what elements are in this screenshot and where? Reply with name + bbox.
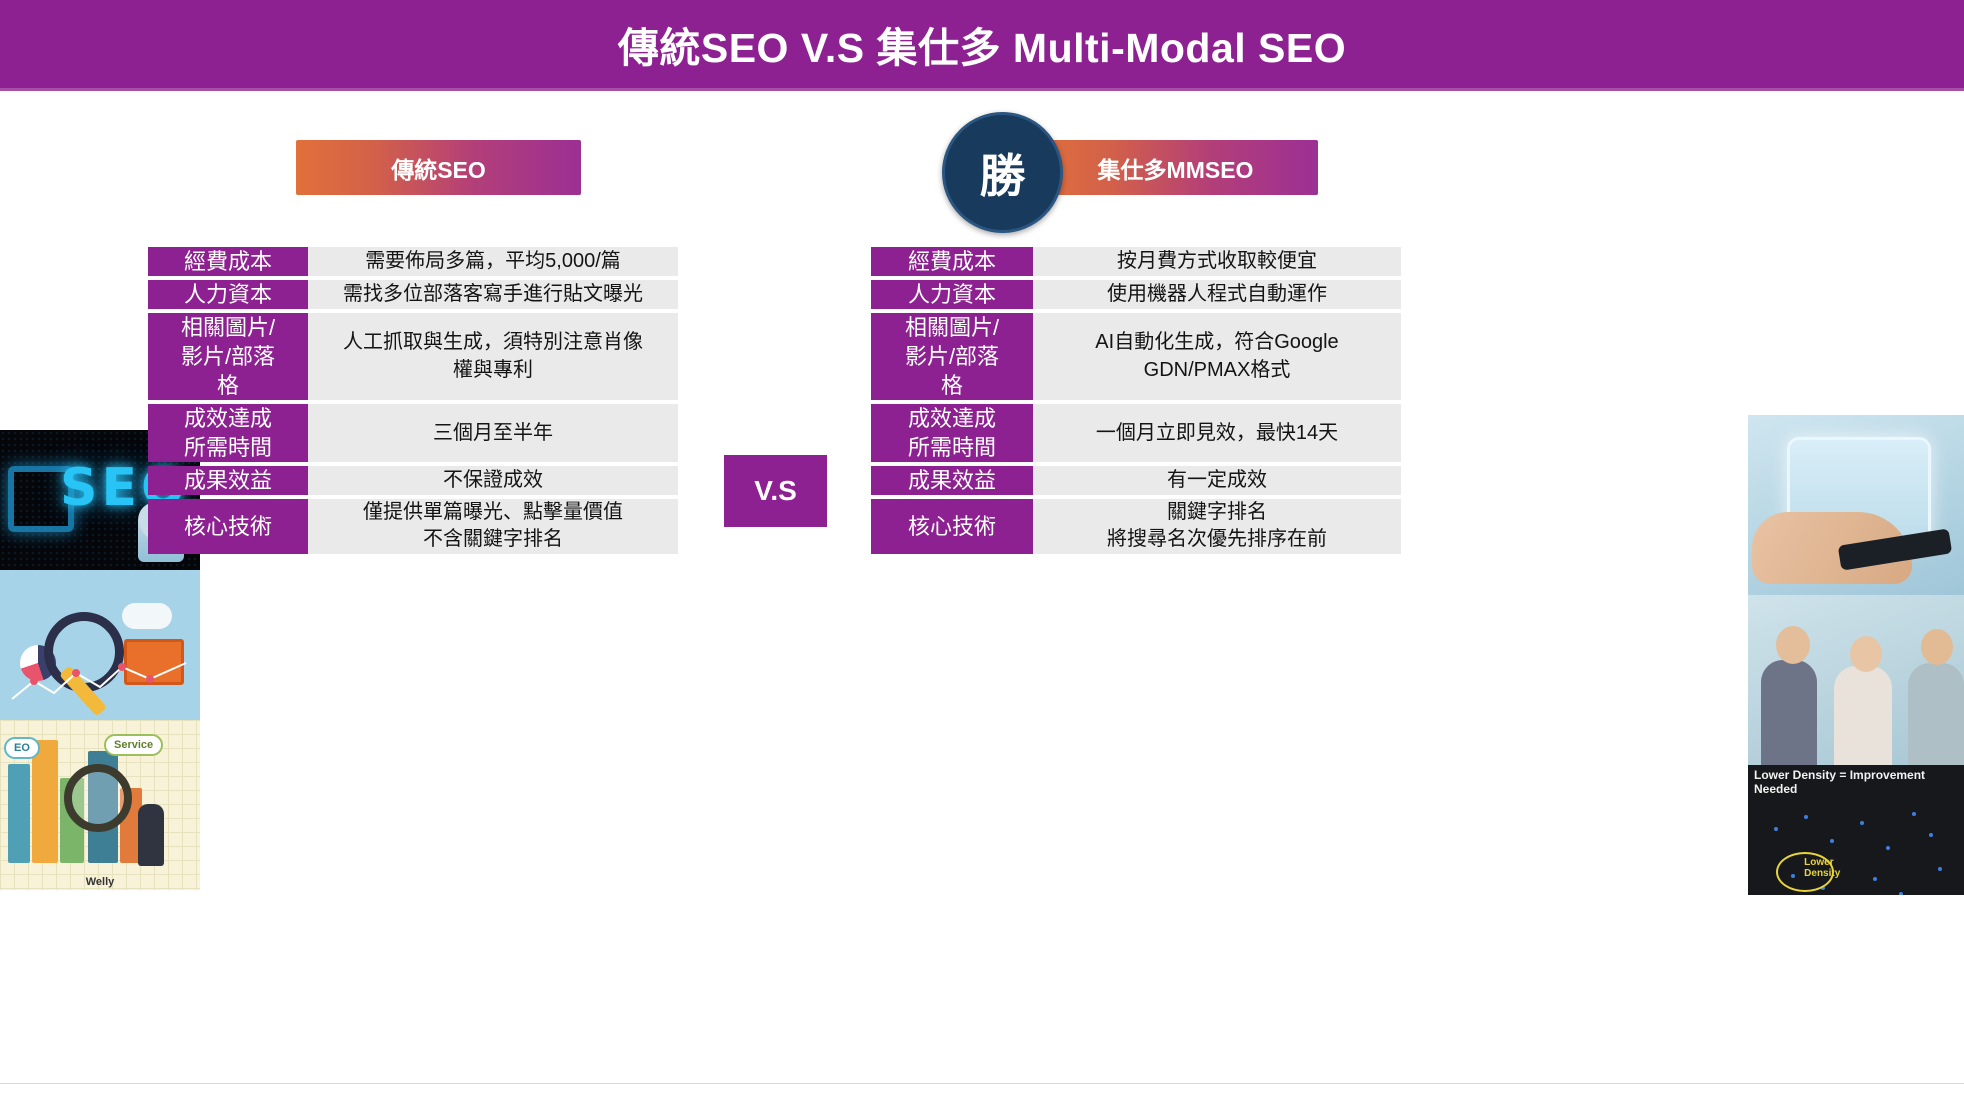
hand-touch-screen-photo bbox=[1748, 415, 1964, 595]
seo-bubble-label: EO bbox=[4, 737, 40, 759]
mmseo-header-label: 集仕多MMSEO bbox=[1098, 151, 1254, 185]
table-row: 相關圖片/影片/部落格AI自動化生成，符合GoogleGDN/PMAX格式 bbox=[871, 313, 1401, 400]
row-value: 人工抓取與生成，須特別注意肖像權與專利 bbox=[308, 313, 678, 400]
table-row: 核心技術關鍵字排名將搜尋名次優先排序在前 bbox=[871, 499, 1401, 553]
vs-badge: V.S bbox=[724, 455, 827, 527]
table-row: 成效達成所需時間一個月立即見效，最快14天 bbox=[871, 404, 1401, 462]
network-title: Lower Density = Improvement Needed bbox=[1754, 769, 1953, 797]
row-value: 關鍵字排名將搜尋名次優先排序在前 bbox=[1033, 499, 1401, 553]
person-figure bbox=[138, 804, 164, 866]
person-body bbox=[1908, 663, 1964, 765]
table-row: 人力資本使用機器人程式自動運作 bbox=[871, 280, 1401, 309]
person-head bbox=[1921, 629, 1953, 665]
mmseo-rows: 經費成本按月費方式收取較便宜人力資本使用機器人程式自動運作相關圖片/影片/部落格… bbox=[871, 247, 1401, 554]
traditional-seo-table: 經費成本需要佈局多篇，平均5,000/篇人力資本需找多位部落客寫手進行貼文曝光相… bbox=[148, 243, 678, 558]
right-image-strip: Lower Density = Improvement Needed Lower… bbox=[1748, 415, 1964, 895]
page-banner: 傳統SEO V.S 集仕多 Multi-Modal SEO bbox=[0, 0, 1964, 88]
row-value: 一個月立即見效，最快14天 bbox=[1033, 404, 1401, 462]
row-label: 成果效益 bbox=[148, 466, 308, 495]
row-label: 經費成本 bbox=[871, 247, 1033, 276]
row-label: 核心技術 bbox=[148, 499, 308, 553]
row-label: 相關圖片/影片/部落格 bbox=[871, 313, 1033, 400]
row-label: 成效達成所需時間 bbox=[148, 404, 308, 462]
building-shape bbox=[8, 764, 30, 863]
row-label: 相關圖片/影片/部落格 bbox=[148, 313, 308, 400]
table-row: 核心技術僅提供單篇曝光、點擊量價值不含關鍵字排名 bbox=[148, 499, 678, 553]
bottom-divider bbox=[0, 1083, 1964, 1084]
table-row: 成果效益有一定成效 bbox=[871, 466, 1401, 495]
winner-badge-label: 勝 bbox=[980, 140, 1026, 206]
row-label: 成果效益 bbox=[871, 466, 1033, 495]
winner-badge: 勝 bbox=[942, 112, 1063, 233]
row-value: 不保證成效 bbox=[308, 466, 678, 495]
seo-city-search-illustration: EO Service Welly bbox=[0, 720, 200, 890]
page-title: 傳統SEO V.S 集仕多 Multi-Modal SEO bbox=[618, 14, 1346, 74]
vs-badge-label: V.S bbox=[754, 475, 797, 507]
keyword-density-network-photo: Lower Density = Improvement Needed Lower… bbox=[1748, 765, 1964, 895]
traditional-seo-header-label: 傳統SEO bbox=[391, 151, 486, 185]
table-row: 相關圖片/影片/部落格人工抓取與生成，須特別注意肖像權與專利 bbox=[148, 313, 678, 400]
row-value: 需要佈局多篇，平均5,000/篇 bbox=[308, 247, 678, 276]
row-value: 有一定成效 bbox=[1033, 466, 1401, 495]
service-bubble-label: Service bbox=[104, 734, 163, 756]
mmseo-table: 經費成本按月費方式收取較便宜人力資本使用機器人程式自動運作相關圖片/影片/部落格… bbox=[871, 243, 1401, 558]
lower-density-annotation: LowerDensity bbox=[1804, 858, 1840, 879]
trend-line-icon bbox=[8, 659, 192, 705]
row-value: 三個月至半年 bbox=[308, 404, 678, 462]
person-head bbox=[1776, 626, 1810, 664]
table-row: 經費成本需要佈局多篇，平均5,000/篇 bbox=[148, 247, 678, 276]
row-value: 使用機器人程式自動運作 bbox=[1033, 280, 1401, 309]
traditional-seo-column: 傳統SEO 經費成本需要佈局多篇，平均5,000/篇人力資本需找多位部落客寫手進… bbox=[148, 140, 678, 558]
row-value: 按月費方式收取較便宜 bbox=[1033, 247, 1401, 276]
welly-logo: Welly bbox=[86, 876, 115, 888]
business-people-ai-photo bbox=[1748, 595, 1964, 765]
banner-underline bbox=[0, 88, 1964, 91]
table-row: 成果效益不保證成效 bbox=[148, 466, 678, 495]
cloud-icon bbox=[122, 603, 172, 629]
row-value: AI自動化生成，符合GoogleGDN/PMAX格式 bbox=[1033, 313, 1401, 400]
mmseo-header: 集仕多MMSEO bbox=[1033, 140, 1318, 195]
row-value: 需找多位部落客寫手進行貼文曝光 bbox=[308, 280, 678, 309]
table-row: 人力資本需找多位部落客寫手進行貼文曝光 bbox=[148, 280, 678, 309]
row-value: 僅提供單篇曝光、點擊量價值不含關鍵字排名 bbox=[308, 499, 678, 553]
traditional-seo-header: 傳統SEO bbox=[296, 140, 581, 195]
row-label: 經費成本 bbox=[148, 247, 308, 276]
row-label: 核心技術 bbox=[871, 499, 1033, 553]
magnifier-icon bbox=[64, 764, 132, 832]
seo-analytics-illustration bbox=[0, 570, 200, 720]
building-shape bbox=[32, 740, 58, 862]
row-label: 人力資本 bbox=[871, 280, 1033, 309]
traditional-seo-rows: 經費成本需要佈局多篇，平均5,000/篇人力資本需找多位部落客寫手進行貼文曝光相… bbox=[148, 247, 678, 554]
row-label: 成效達成所需時間 bbox=[871, 404, 1033, 462]
person-head bbox=[1850, 636, 1882, 672]
table-row: 成效達成所需時間三個月至半年 bbox=[148, 404, 678, 462]
person-body bbox=[1761, 660, 1817, 765]
person-body bbox=[1834, 666, 1892, 765]
table-row: 經費成本按月費方式收取較便宜 bbox=[871, 247, 1401, 276]
row-label: 人力資本 bbox=[148, 280, 308, 309]
